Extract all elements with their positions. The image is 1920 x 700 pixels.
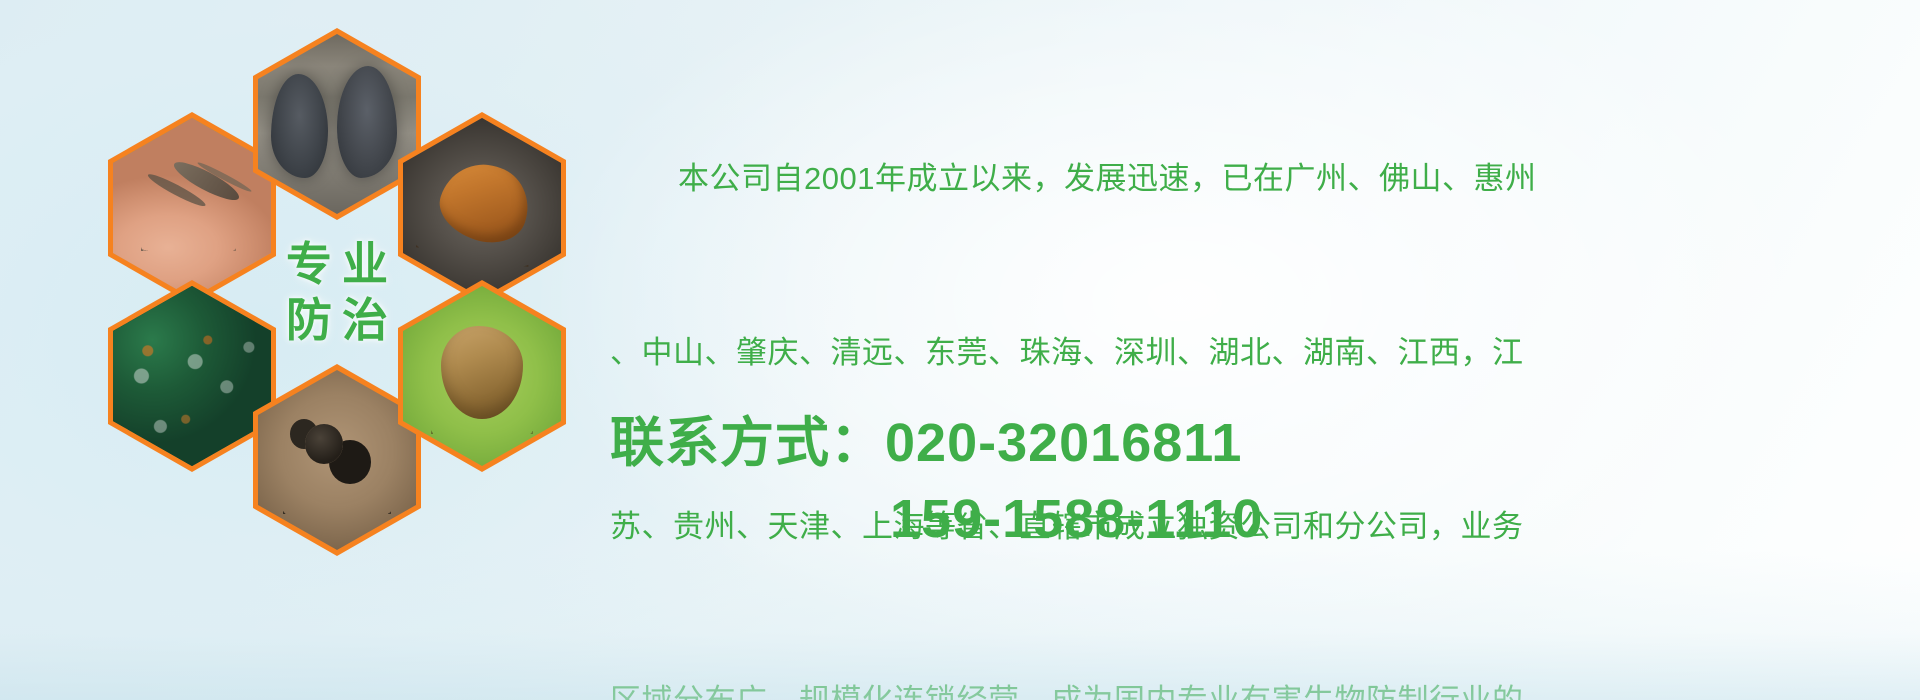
hex-photo-ant: [253, 364, 421, 556]
contact-block: 联系方式：020-32016811 159-1588-1110: [610, 405, 1910, 557]
hex-photo-stinkbug: [398, 280, 566, 472]
hex-photo-ant-inner: [258, 370, 416, 550]
intro-copy: 本公司自2001年成立以来，发展迅速，已在广州、佛山、惠州 、中山、肇庆、清远、…: [610, 34, 1910, 700]
hex-photo-cockroach-inner: [403, 118, 561, 298]
mosquito-image: [113, 118, 271, 298]
hex-label-line-1: 专业: [276, 241, 398, 287]
honeycomb-gallery: 专业 防治: [80, 8, 600, 568]
contact-phone-primary[interactable]: 联系方式：020-32016811: [610, 405, 1910, 481]
intro-line-2: 、中山、肇庆、清远、东莞、珠海、深圳、湖北、湖南、江西，江: [610, 324, 1910, 382]
hex-photo-cockroach: [398, 112, 566, 304]
ant-image: [258, 370, 416, 550]
hex-photo-stinkbug-inner: [403, 286, 561, 466]
hex-photo-rats-inner: [258, 34, 416, 214]
stinkbug-image: [403, 286, 561, 466]
hex-photo-mosquito: [108, 112, 276, 304]
hex-label-line-2: 防治: [276, 297, 398, 343]
hex-photo-mosquito-inner: [113, 118, 271, 298]
intro-line-1: 本公司自2001年成立以来，发展迅速，已在广州、佛山、惠州: [610, 150, 1910, 208]
flies-image: [113, 286, 271, 466]
hex-photo-flies: [108, 280, 276, 472]
intro-line-4: 区域分布广、规模化连锁经营，成为国内专业有害生物防制行业的: [610, 672, 1910, 700]
hex-photo-rats: [253, 28, 421, 220]
rats-image: [258, 34, 416, 214]
contact-phone-mobile[interactable]: 159-1588-1110: [610, 481, 1910, 557]
cockroach-image: [403, 118, 561, 298]
honeycomb-center-label: 专业 防治: [253, 196, 421, 388]
hex-photo-flies-inner: [113, 286, 271, 466]
intro-paragraph: 本公司自2001年成立以来，发展迅速，已在广州、佛山、惠州 、中山、肇庆、清远、…: [610, 34, 1910, 700]
promo-banner: 专业 防治 本公司自2001年成立以来，发展迅速，已在广州、佛山、惠州 、中山、…: [0, 0, 1920, 700]
